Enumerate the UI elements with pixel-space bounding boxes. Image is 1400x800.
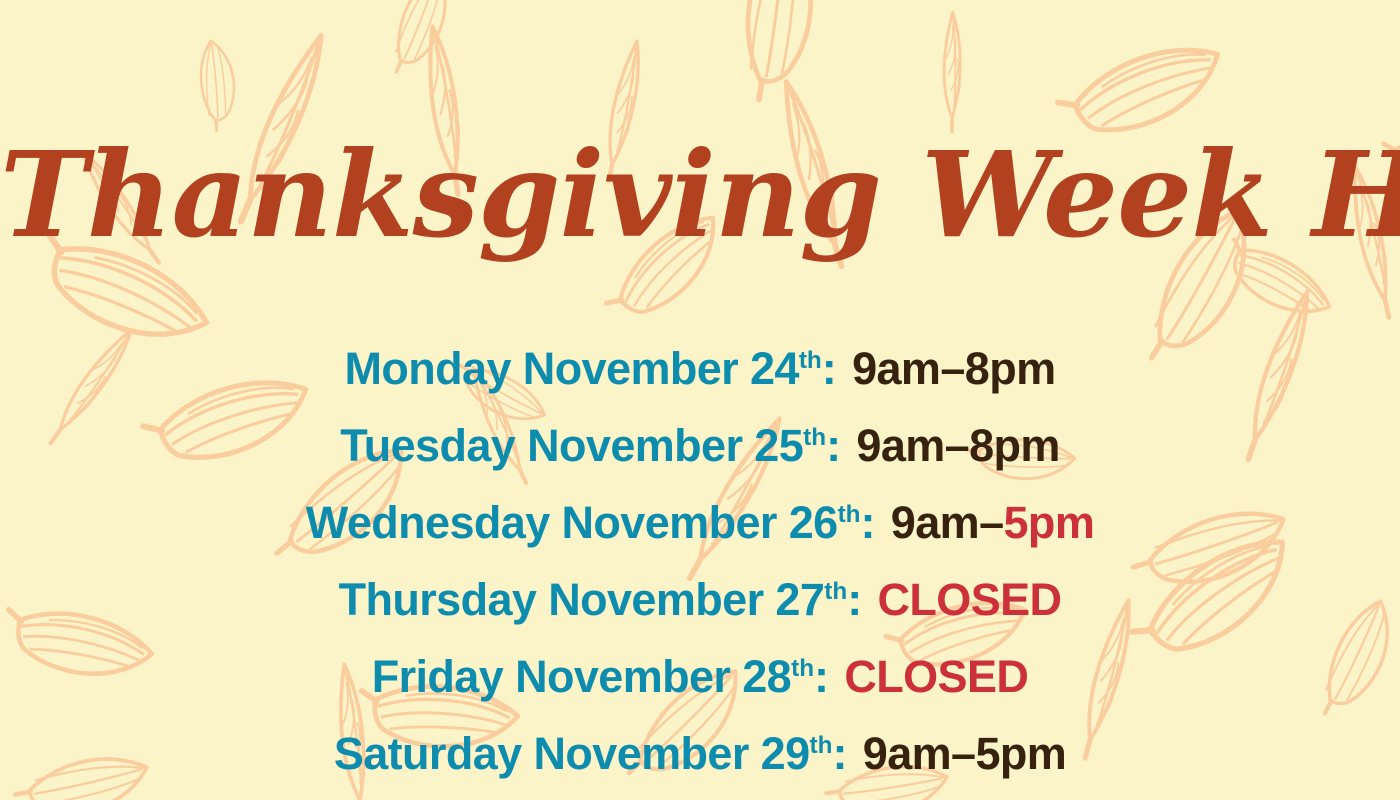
hours-row: Thursday November 27th: CLOSED bbox=[0, 561, 1400, 638]
hours-row: Wednesday November 26th: 9am–5pm bbox=[0, 484, 1400, 561]
hours-close-time-highlight: 5pm bbox=[1004, 497, 1095, 548]
hours-value: 9am–5pm bbox=[863, 728, 1066, 779]
separator: : bbox=[847, 574, 861, 625]
day-date-label: Monday November 24 bbox=[345, 343, 799, 394]
hours-row: Friday November 28th: CLOSED bbox=[0, 638, 1400, 715]
hours-row: Saturday November 29th: 9am–5pm bbox=[0, 715, 1400, 792]
day-date-label: Friday November 28 bbox=[372, 651, 791, 702]
day-date-label: Thursday November 27 bbox=[339, 574, 825, 625]
hours-open-time: 9am– bbox=[891, 497, 1004, 548]
ordinal-suffix: th bbox=[799, 347, 822, 374]
status-badge-closed: CLOSED bbox=[878, 574, 1062, 625]
separator: : bbox=[814, 651, 828, 702]
hours-row: Tuesday November 25th: 9am–8pm bbox=[0, 407, 1400, 484]
ordinal-suffix: th bbox=[824, 578, 847, 605]
day-date-label: Wednesday November 26 bbox=[306, 497, 838, 548]
hours-row: Monday November 24th: 9am–8pm bbox=[0, 330, 1400, 407]
hours-value: 9am–8pm bbox=[852, 343, 1055, 394]
hours-value: 9am–8pm bbox=[856, 420, 1059, 471]
thanksgiving-hours-poster: Thanksgiving Week Hours Monday November … bbox=[0, 0, 1400, 800]
separator: : bbox=[826, 420, 840, 471]
separator: : bbox=[822, 343, 836, 394]
hours-list: Monday November 24th: 9am–8pmTuesday Nov… bbox=[0, 330, 1400, 792]
ordinal-suffix: th bbox=[791, 655, 814, 682]
day-date-label: Tuesday November 25 bbox=[340, 420, 803, 471]
ordinal-suffix: th bbox=[810, 732, 833, 759]
day-date-label: Saturday November 29 bbox=[334, 728, 810, 779]
separator: : bbox=[832, 728, 846, 779]
separator: : bbox=[861, 497, 875, 548]
ordinal-suffix: th bbox=[803, 424, 826, 451]
page-title: Thanksgiving Week Hours bbox=[0, 133, 1400, 257]
hours-value: 9am–5pm bbox=[891, 497, 1094, 548]
status-badge-closed: CLOSED bbox=[844, 651, 1028, 702]
ordinal-suffix: th bbox=[838, 501, 861, 528]
